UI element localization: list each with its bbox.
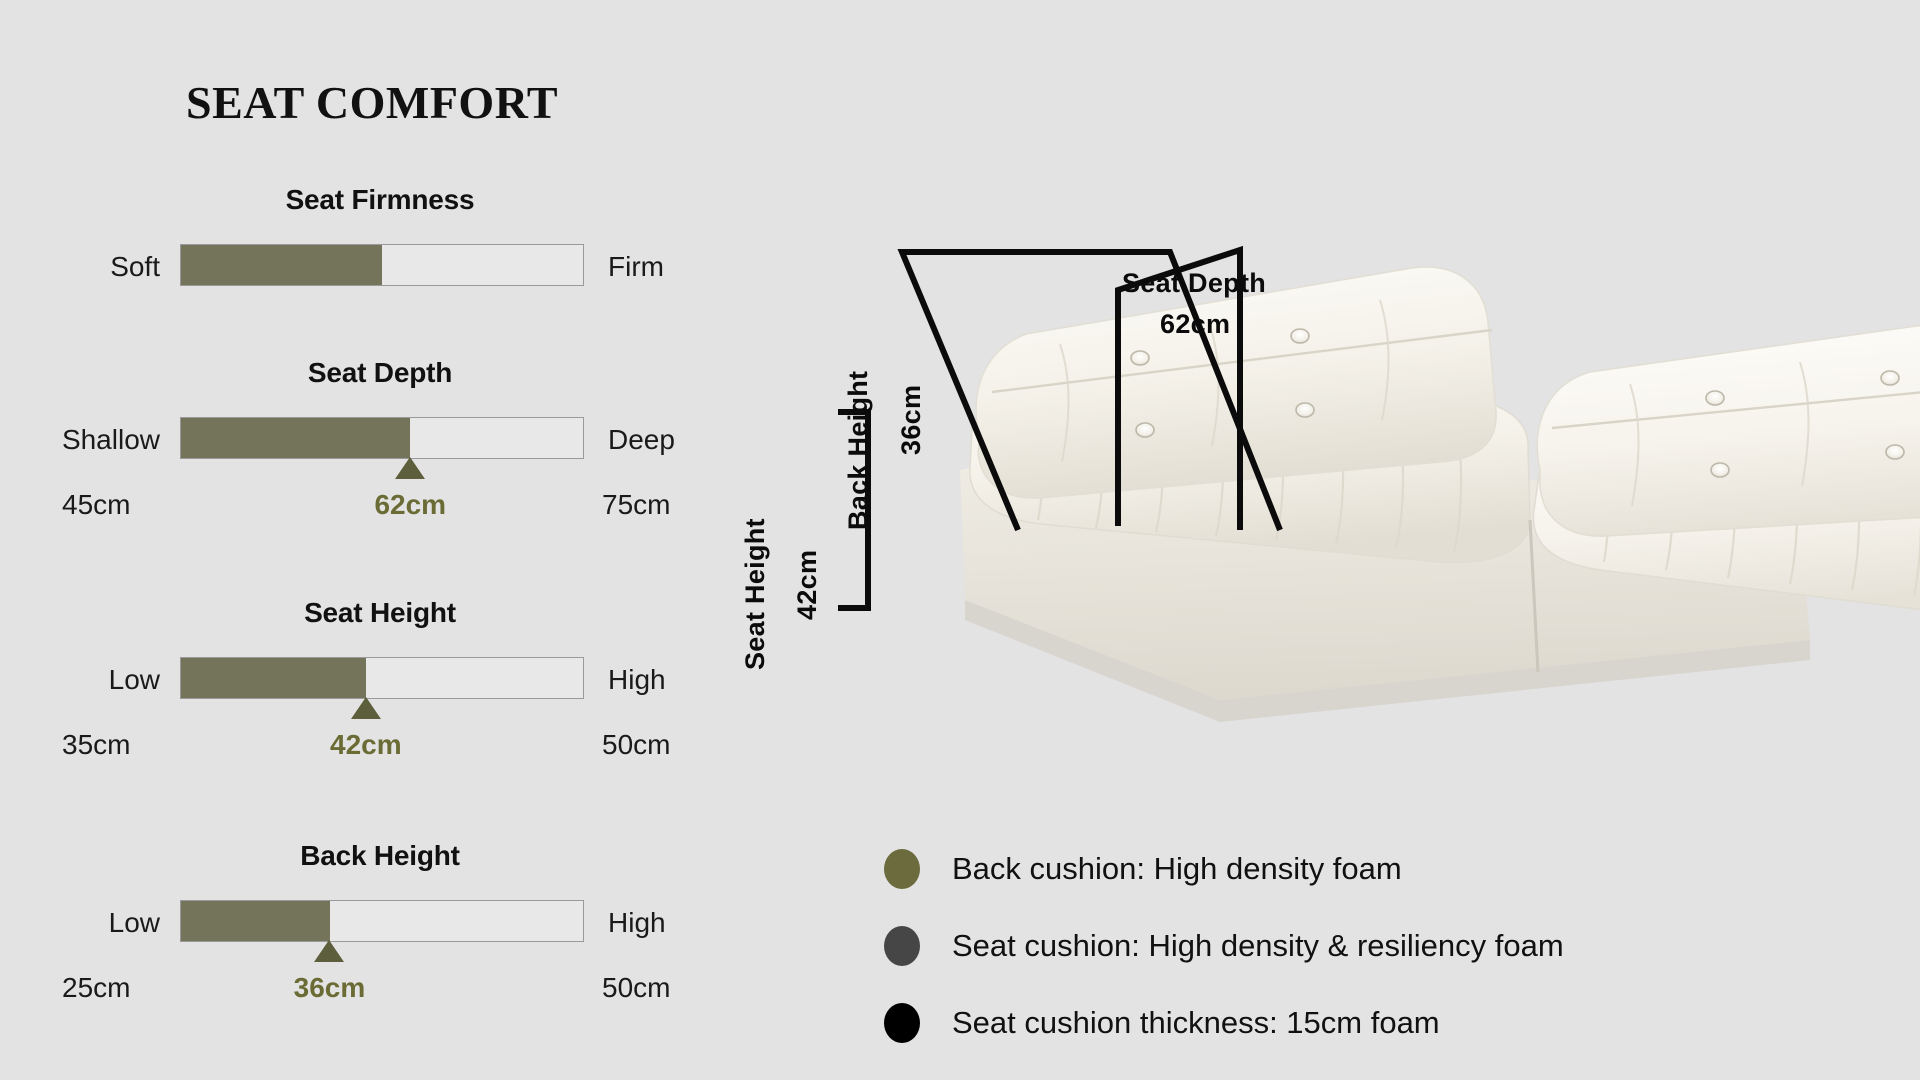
- slider-max-value: 75cm: [602, 489, 670, 521]
- slider-max-endpoint-label: Firm: [608, 251, 664, 283]
- slider-title: Back Height: [0, 840, 760, 872]
- slider-value-marker-icon: [351, 697, 381, 719]
- slider-title: Seat Firmness: [0, 184, 760, 216]
- legend-item-label: Seat cushion: High density & resiliency …: [952, 928, 1564, 964]
- slider-min-endpoint-label: Shallow: [62, 424, 160, 456]
- annotation-seat-depth-value: 62cm: [1160, 309, 1230, 340]
- slider-fill: [181, 901, 330, 941]
- annotation-back-height-value: 36cm: [896, 385, 927, 455]
- slider-seat-firmness[interactable]: Soft Firm: [0, 244, 760, 290]
- page-title: SEAT COMFORT: [186, 76, 558, 129]
- materials-legend: Back cushion: High density foam Seat cus…: [740, 830, 1920, 1061]
- annotation-seat-height-value: 42cm: [792, 550, 823, 620]
- slider-value-marker-icon: [314, 940, 344, 962]
- legend-color-swatch-icon: [884, 1003, 920, 1043]
- comfort-spec-panel: SEAT COMFORT Seat Firmness Soft Firm Sea…: [0, 0, 760, 1080]
- legend-item-label: Seat cushion thickness: 15cm foam: [952, 1005, 1440, 1041]
- slider-group-seat-depth: Seat Depth Shallow Deep 45cm 62cm 75cm: [0, 357, 760, 529]
- slider-max-endpoint-label: High: [608, 664, 666, 696]
- product-diagram-panel: Seat Height 42cm Back Height 36cm Seat D…: [740, 0, 1920, 1080]
- slider-value-row: 25cm 36cm 50cm: [0, 972, 760, 1012]
- sofa-diagram: Seat Height 42cm Back Height 36cm Seat D…: [740, 0, 1920, 840]
- slider-value-marker-icon: [395, 457, 425, 479]
- slider-value-row: 45cm 62cm 75cm: [0, 489, 760, 529]
- slider-fill: [181, 418, 410, 458]
- legend-color-swatch-icon: [884, 849, 920, 889]
- slider-value-row: 35cm 42cm 50cm: [0, 729, 760, 769]
- slider-min-value: 35cm: [62, 729, 130, 761]
- slider-current-value: 42cm: [330, 729, 402, 761]
- slider-track[interactable]: [180, 244, 584, 286]
- slider-current-value: 62cm: [374, 489, 446, 521]
- annotation-seat-height-label: Seat Height: [740, 518, 771, 670]
- slider-track[interactable]: [180, 417, 584, 459]
- slider-track[interactable]: [180, 657, 584, 699]
- legend-item: Seat cushion thickness: 15cm foam: [740, 984, 1920, 1061]
- slider-track[interactable]: [180, 900, 584, 942]
- slider-min-value: 45cm: [62, 489, 130, 521]
- slider-fill: [181, 658, 366, 698]
- slider-seat-depth[interactable]: Shallow Deep: [0, 417, 760, 463]
- slider-max-value: 50cm: [602, 972, 670, 1004]
- slider-back-height[interactable]: Low High: [0, 900, 760, 946]
- slider-min-endpoint-label: Low: [109, 907, 160, 939]
- legend-item: Back cushion: High density foam: [740, 830, 1920, 907]
- slider-min-value: 25cm: [62, 972, 130, 1004]
- back-cushion-left: [976, 267, 1496, 498]
- slider-group-seat-firmness: Seat Firmness Soft Firm: [0, 184, 760, 290]
- slider-seat-height[interactable]: Low High: [0, 657, 760, 703]
- slider-title: Seat Depth: [0, 357, 760, 389]
- legend-item-label: Back cushion: High density foam: [952, 851, 1402, 887]
- slider-title: Seat Height: [0, 597, 760, 629]
- slider-group-seat-height: Seat Height Low High 35cm 42cm 50cm: [0, 597, 760, 769]
- slider-fill: [181, 245, 382, 285]
- legend-color-swatch-icon: [884, 926, 920, 966]
- slider-current-value: 36cm: [294, 972, 366, 1004]
- slider-max-endpoint-label: High: [608, 907, 666, 939]
- slider-min-endpoint-label: Soft: [110, 251, 160, 283]
- back-cushion-right: [1537, 315, 1920, 536]
- slider-group-back-height: Back Height Low High 25cm 36cm 50cm: [0, 840, 760, 1012]
- annotation-seat-depth-label: Seat Depth: [1122, 268, 1266, 299]
- legend-item: Seat cushion: High density & resiliency …: [740, 907, 1920, 984]
- slider-max-value: 50cm: [602, 729, 670, 761]
- slider-min-endpoint-label: Low: [109, 664, 160, 696]
- annotation-back-height-label: Back Height: [843, 371, 874, 530]
- slider-max-endpoint-label: Deep: [608, 424, 675, 456]
